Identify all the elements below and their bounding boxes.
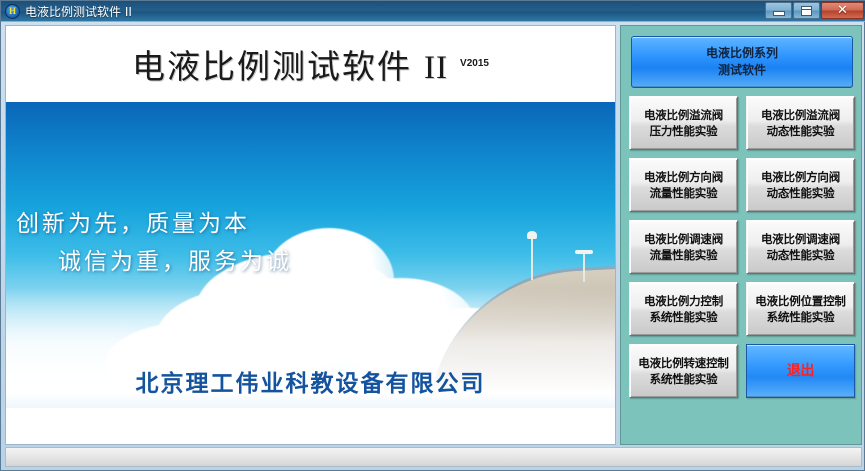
banner-image: 创新为先，质量为本 诚信为重，服务为诚 北京理工伟业科教设备有限公司: [6, 102, 615, 408]
maximize-icon: [801, 6, 812, 16]
status-bar: [5, 447, 862, 467]
button-relief-valve-pressure[interactable]: 电液比例溢流阀 压力性能实验: [629, 96, 738, 150]
page-title: 电液比例测试软件IIV2015: [132, 40, 489, 88]
header-area: 电液比例测试软件IIV2015: [6, 26, 615, 102]
button-relief-valve-dynamic[interactable]: 电液比例溢流阀 动态性能实验: [746, 96, 855, 150]
lamp-post-icon: [583, 254, 585, 282]
button-position-control-system[interactable]: 电液比例位置控制 系统性能实验: [746, 282, 855, 336]
client-area: 电液比例测试软件IIV2015 创新为先，质量为本 诚信为重，服务为诚: [5, 25, 862, 445]
page-title-roman: II: [424, 50, 448, 86]
app-logo-icon: H: [5, 4, 20, 19]
page-title-text: 电液比例测试软件: [132, 47, 412, 86]
slogan-line-2: 诚信为重，服务为诚: [58, 244, 292, 282]
window-controls: ✕: [764, 2, 864, 19]
button-directional-valve-dynamic[interactable]: 电液比例方向阀 动态性能实验: [746, 158, 855, 212]
lamp-post-icon: [531, 238, 533, 280]
window-title: 电液比例测试软件 II: [25, 3, 132, 20]
button-force-control-system[interactable]: 电液比例力控制 系统性能实验: [629, 282, 738, 336]
close-icon: ✕: [837, 4, 848, 17]
button-speed-valve-flow[interactable]: 电液比例调速阀 流量性能实验: [629, 220, 738, 274]
version-label: V2015: [460, 58, 489, 69]
close-button[interactable]: ✕: [821, 2, 864, 19]
maximize-button[interactable]: [793, 2, 820, 19]
slogan-line-1: 创新为先，质量为本: [16, 211, 250, 237]
menu-panel: 电液比例系列 测试软件 电液比例溢流阀 压力性能实验 电液比例溢流阀 动态性能实…: [620, 25, 862, 445]
slogan: 创新为先，质量为本 诚信为重，服务为诚: [16, 206, 292, 282]
exit-button[interactable]: 退出: [746, 344, 855, 398]
button-speed-control-system[interactable]: 电液比例转速控制 系统性能实验: [629, 344, 738, 398]
button-directional-valve-flow[interactable]: 电液比例方向阀 流量性能实验: [629, 158, 738, 212]
application-window: H 电液比例测试软件 II ✕ 电液比例测试软件IIV2015: [0, 0, 865, 471]
splash-panel: 电液比例测试软件IIV2015 创新为先，质量为本 诚信为重，服务为诚: [5, 25, 616, 445]
button-speed-valve-dynamic[interactable]: 电液比例调速阀 动态性能实验: [746, 220, 855, 274]
minimize-button[interactable]: [765, 2, 792, 19]
company-name: 北京理工伟业科教设备有限公司: [6, 364, 615, 398]
title-bar: H 电液比例测试软件 II ✕: [1, 1, 865, 22]
suite-title-button[interactable]: 电液比例系列 测试软件: [631, 36, 853, 88]
minimize-icon: [773, 11, 785, 16]
experiment-button-grid: 电液比例溢流阀 压力性能实验 电液比例溢流阀 动态性能实验 电液比例方向阀 流量…: [629, 96, 855, 398]
